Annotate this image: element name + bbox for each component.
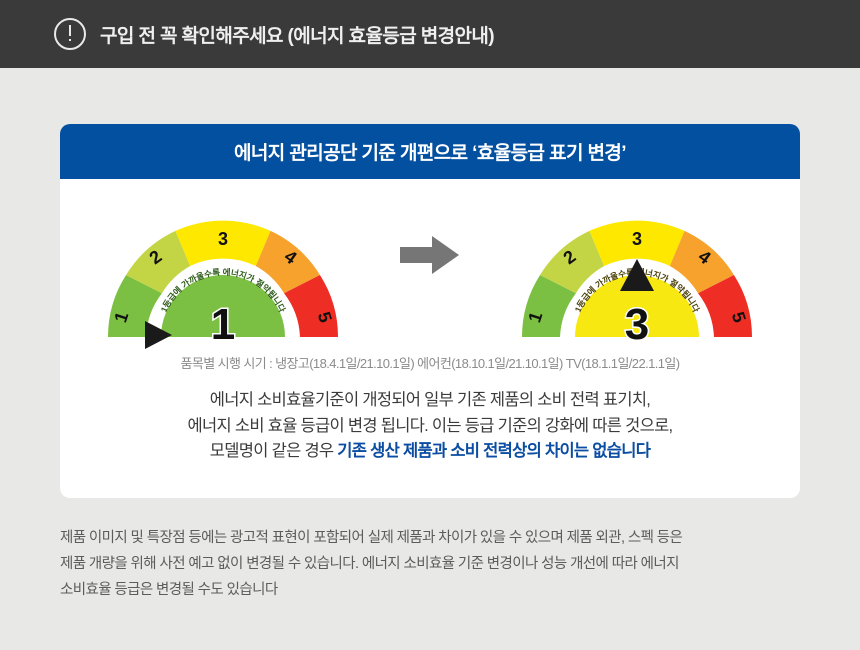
body-copy: 에너지 소비효율기준이 개정되어 일부 기존 제품의 소비 전력 표기치, 에너… — [60, 388, 800, 465]
body-copy-line-2: 에너지 소비 효율 등급이 변경 됩니다. 이는 등급 기준의 강화에 따른 것… — [60, 414, 800, 440]
card-header-title: 에너지 관리공단 기준 개편으로 ‘효율등급 표기 변경’ — [234, 138, 626, 165]
disclaimer-line-3: 소비효율 등급은 변경될 수도 있습니다 — [60, 577, 800, 603]
body-copy-line-3-accent: 기존 생산 제품과 소비 전력상의 차이는 없습니다 — [337, 442, 650, 460]
body-copy-line-3: 모델명이 같은 경우 기존 생산 제품과 소비 전력상의 차이는 없습니다 — [60, 439, 800, 465]
gauge-comparison: 1 2 3 4 5 1등급에 가까울수록 에너지가 절약됩니다 1 — [60, 179, 800, 349]
gauge-before-grade-value: 1 — [100, 303, 346, 347]
disclaimer-line-2: 제품 개량을 위해 사전 예고 없이 변경될 수 있습니다. 에너지 소비효율 … — [60, 551, 800, 577]
disclaimer-text: 제품 이미지 및 특장점 등에는 광고적 표현이 포함되어 실제 제품과 차이가… — [60, 525, 800, 603]
card-header: 에너지 관리공단 기준 개편으로 ‘효율등급 표기 변경’ — [60, 124, 800, 179]
notice-header-bar: 구입 전 꼭 확인해주세요 (에너지 효율등급 변경안내) — [0, 0, 860, 68]
gauge-before: 1 2 3 4 5 1등급에 가까울수록 에너지가 절약됩니다 1 — [100, 209, 346, 349]
energy-notice-card: 에너지 관리공단 기준 개편으로 ‘효율등급 표기 변경’ — [60, 124, 800, 498]
gauge-after-label-3: 3 — [632, 229, 642, 249]
body-copy-line-3-prefix: 모델명이 같은 경우 — [210, 442, 338, 460]
exclamation-circle-icon — [54, 18, 86, 50]
gauge-before-label-3: 3 — [218, 229, 228, 249]
notice-header-title: 구입 전 꼭 확인해주세요 (에너지 효율등급 변경안내) — [100, 21, 494, 48]
schedule-note: 품목별 시행 시기 : 냉장고(18.4.1일/21.10.1일) 에어컨(18… — [60, 353, 800, 372]
gauge-after: 1 2 3 4 5 1등급에 가까울수록 에너지가 절약됩니다 3 — [514, 209, 760, 349]
body-copy-line-1: 에너지 소비효율기준이 개정되어 일부 기존 제품의 소비 전력 표기치, — [60, 388, 800, 414]
gauge-after-grade-value: 3 — [514, 303, 760, 347]
disclaimer-line-1: 제품 이미지 및 특장점 등에는 광고적 표현이 포함되어 실제 제품과 차이가… — [60, 525, 800, 551]
right-arrow-icon — [400, 234, 460, 276]
